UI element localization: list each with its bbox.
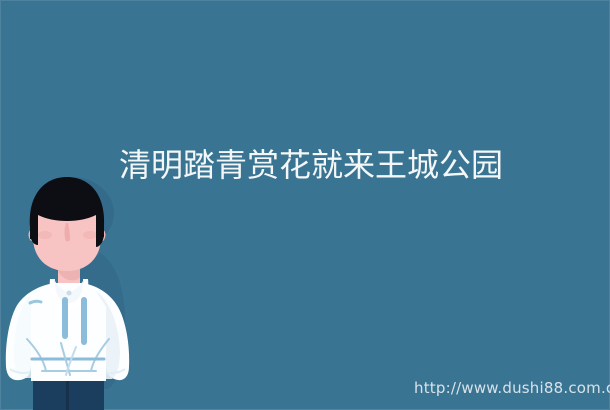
head <box>29 177 106 271</box>
boy-in-white-hoodie-illustration <box>0 175 135 410</box>
drawstring-right <box>81 297 87 345</box>
drawstring-left <box>62 297 68 339</box>
page-title: 清明踏青赏花就来王城公园 <box>119 145 519 185</box>
watermark-url: http://www.dushi88.com.cn <box>414 379 610 397</box>
promo-banner: 清明踏青赏花就来王城公园 http://www.dushi88.com.cn <box>0 0 610 410</box>
